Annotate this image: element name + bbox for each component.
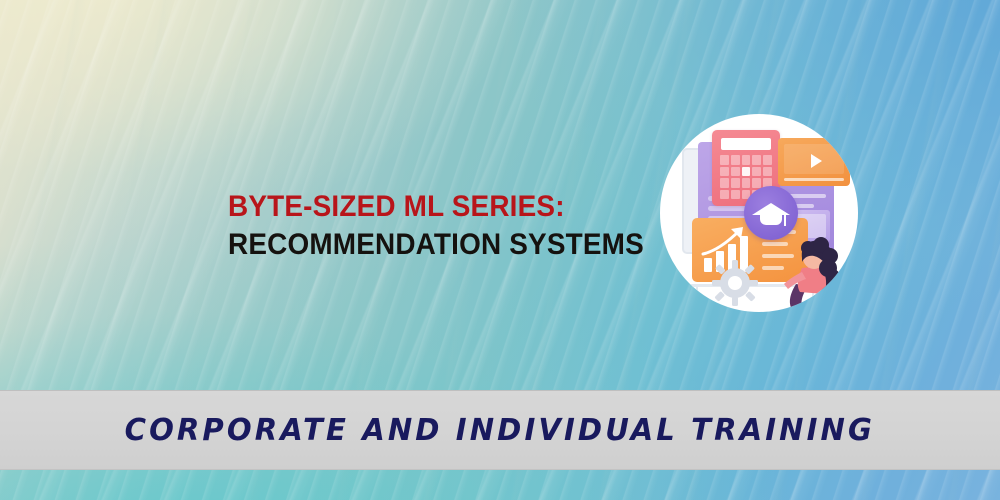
video-progress-bar bbox=[784, 178, 844, 181]
illustration-badge bbox=[660, 114, 858, 312]
gear-icon bbox=[712, 260, 758, 306]
footer-banner-text: CORPORATE AND INDIVIDUAL TRAINING bbox=[125, 413, 875, 448]
illustration-content bbox=[660, 114, 858, 312]
title-block: BYTE-SIZED ML SERIES: RECOMMENDATION SYS… bbox=[228, 188, 658, 264]
calculator-display bbox=[721, 138, 771, 150]
play-icon bbox=[811, 154, 822, 168]
video-player-card-icon bbox=[778, 138, 850, 186]
title-line-topic: RECOMMENDATION SYSTEMS bbox=[228, 226, 628, 264]
promo-banner: BYTE-SIZED ML SERIES: RECOMMENDATION SYS… bbox=[0, 0, 1000, 500]
footer-banner: CORPORATE AND INDIVIDUAL TRAINING bbox=[0, 390, 1000, 470]
title-line-series: BYTE-SIZED ML SERIES: bbox=[228, 188, 628, 226]
person-icon bbox=[778, 232, 854, 312]
